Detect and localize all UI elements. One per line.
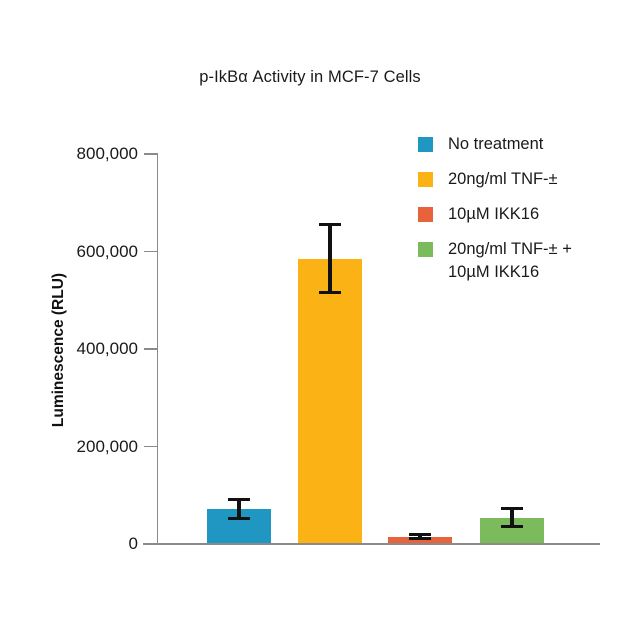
- error-bar-cap-top: [501, 507, 523, 510]
- legend-color-swatch: [418, 207, 433, 222]
- error-bar-stem: [328, 223, 331, 294]
- chart-figure: p-IkBα Activity in MCF-7 Cells Luminesce…: [0, 0, 640, 630]
- y-axis-tick-label: 600,000: [77, 242, 138, 262]
- y-axis-tick-label: 400,000: [77, 339, 138, 359]
- error-bar: [228, 498, 250, 520]
- error-bar-cap-bottom: [501, 525, 523, 528]
- legend-item[interactable]: No treatment: [418, 133, 633, 156]
- legend-item[interactable]: 20ng/ml TNF-± + 10µM IKK16: [418, 238, 633, 284]
- error-bar-cap-bottom: [409, 537, 431, 540]
- y-axis-line: [157, 153, 158, 543]
- y-axis-tick: 600,000: [144, 251, 157, 253]
- error-bar: [319, 223, 341, 294]
- legend-item[interactable]: 10µM IKK16: [418, 203, 633, 226]
- y-axis-tick: 800,000: [144, 153, 157, 155]
- legend-item-label: 20ng/ml TNF-±: [448, 168, 558, 191]
- legend-item[interactable]: 20ng/ml TNF-±: [418, 168, 633, 191]
- y-axis-tick-label: 800,000: [77, 144, 138, 164]
- legend-item-label: No treatment: [448, 133, 543, 156]
- bar: [298, 259, 362, 543]
- y-axis-tick-label: 200,000: [77, 437, 138, 457]
- legend-color-swatch: [418, 172, 433, 187]
- y-axis-title: Luminescence (RLU): [50, 200, 68, 500]
- error-bar-cap-bottom: [228, 517, 250, 520]
- y-axis-tick-label: 0: [129, 534, 138, 554]
- chart-title: p-IkBα Activity in MCF-7 Cells: [0, 68, 620, 87]
- error-bar-cap-top: [228, 498, 250, 501]
- error-bar-cap-bottom: [319, 291, 341, 294]
- error-bar: [409, 533, 431, 540]
- y-axis-tick: 0: [144, 543, 157, 545]
- legend-item-label: 20ng/ml TNF-± + 10µM IKK16: [448, 238, 572, 284]
- legend-color-swatch: [418, 242, 433, 257]
- error-bar: [501, 507, 523, 528]
- error-bar-cap-top: [319, 223, 341, 226]
- x-axis-line: [143, 543, 600, 545]
- chart-legend: No treatment20ng/ml TNF-±10µM IKK1620ng/…: [418, 133, 633, 296]
- y-axis-tick: 200,000: [144, 446, 157, 448]
- y-axis-tick: 400,000: [144, 348, 157, 350]
- legend-color-swatch: [418, 137, 433, 152]
- legend-item-label: 10µM IKK16: [448, 203, 539, 226]
